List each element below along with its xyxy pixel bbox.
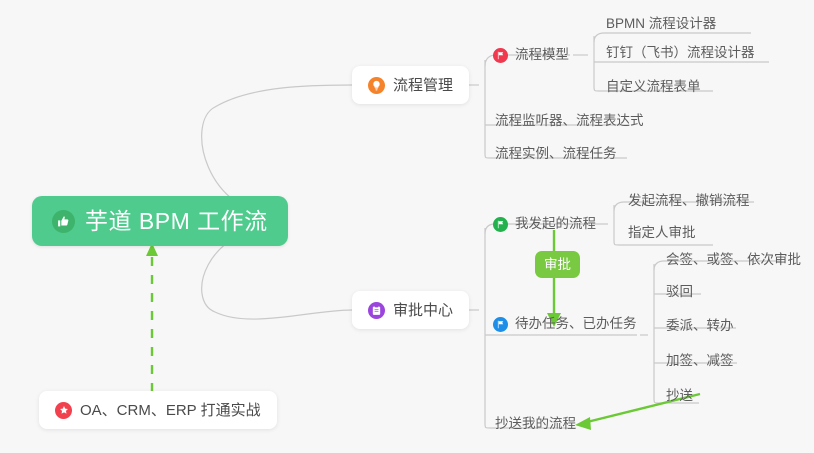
node-label: 抄送	[666, 389, 693, 403]
node-delegate-transfer[interactable]: 委派、转办	[660, 311, 740, 341]
annotation-card-integration[interactable]: OA、CRM、ERP 打通实战	[39, 391, 277, 429]
node-countersign[interactable]: 会签、或签、依次审批	[660, 245, 807, 275]
branch-process-management[interactable]: 流程管理	[352, 66, 469, 104]
root-node[interactable]: 芋道 BPM 工作流	[32, 196, 288, 246]
flag-icon	[493, 317, 508, 332]
branch-approval-center[interactable]: 审批中心	[352, 291, 469, 329]
root-label: 芋道 BPM 工作流	[85, 210, 268, 233]
node-my-started-process[interactable]: 我发起的流程	[487, 209, 602, 239]
node-label: 钉钉（飞书）流程设计器	[606, 46, 755, 60]
branch-label: 审批中心	[393, 303, 453, 318]
badge-label: 审批	[544, 258, 571, 272]
node-label: 流程监听器、流程表达式	[495, 114, 644, 128]
node-reject[interactable]: 驳回	[660, 277, 699, 307]
node-process-instance[interactable]: 流程实例、流程任务	[489, 139, 623, 169]
node-label: 我发起的流程	[515, 217, 596, 231]
node-process-model[interactable]: 流程模型	[487, 40, 575, 70]
node-bpmn-designer[interactable]: BPMN 流程设计器	[600, 9, 722, 39]
node-label: 会签、或签、依次审批	[666, 253, 801, 267]
node-cc-to-me-process[interactable]: 抄送我的流程	[489, 409, 582, 439]
node-label: 抄送我的流程	[495, 417, 576, 431]
node-label: 流程实例、流程任务	[495, 147, 617, 161]
node-add-remove-sign[interactable]: 加签、减签	[660, 346, 740, 376]
node-dingtalk-designer[interactable]: 钉钉（飞书）流程设计器	[600, 38, 761, 68]
node-label: 自定义流程表单	[606, 80, 701, 94]
node-label: 指定人审批	[628, 226, 696, 240]
node-label: 发起流程、撤销流程	[628, 194, 750, 208]
node-label: 委派、转办	[666, 319, 734, 333]
flag-icon	[493, 48, 508, 63]
star-icon	[55, 402, 72, 419]
annotation-label: OA、CRM、ERP 打通实战	[80, 403, 261, 418]
branch-label: 流程管理	[393, 78, 453, 93]
node-label: 流程模型	[515, 48, 569, 62]
thumbs-up-icon	[52, 210, 75, 233]
node-start-cancel-process[interactable]: 发起流程、撤销流程	[622, 186, 756, 216]
node-label: 待办任务、已办任务	[515, 317, 637, 331]
clipboard-icon	[368, 302, 385, 319]
node-label: 加签、减签	[666, 354, 734, 368]
lightbulb-icon	[368, 77, 385, 94]
node-custom-form[interactable]: 自定义流程表单	[600, 72, 707, 102]
node-label: 驳回	[666, 285, 693, 299]
node-carbon-copy[interactable]: 抄送	[660, 381, 699, 411]
mindmap-canvas: 芋道 BPM 工作流 流程管理 流程模型 BPMN 流程设计器 钉钉（飞书）流程…	[0, 0, 814, 453]
node-process-listener[interactable]: 流程监听器、流程表达式	[489, 106, 650, 136]
node-todo-done-tasks[interactable]: 待办任务、已办任务	[487, 309, 643, 339]
node-label: BPMN 流程设计器	[606, 17, 716, 31]
annotation-badge-approval: 审批	[535, 251, 580, 278]
node-assignee-approval[interactable]: 指定人审批	[622, 218, 702, 248]
flag-icon	[493, 217, 508, 232]
